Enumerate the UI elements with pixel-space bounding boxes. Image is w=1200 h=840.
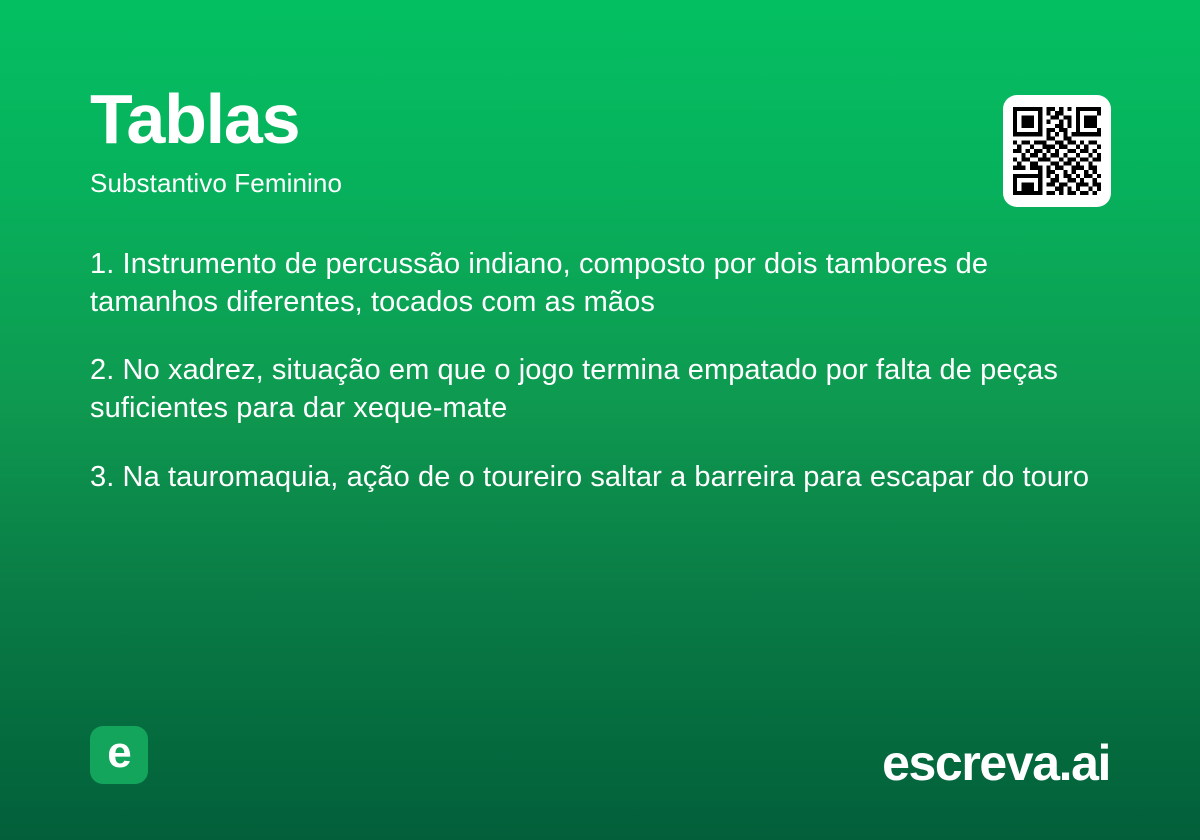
definition-item: 3. Na tauromaquia, ação de o toureiro sa… [90,459,1120,497]
card-footer: e escreva.ai [0,700,1200,840]
page-title: Tablas [90,84,970,154]
dictionary-card: Tablas Substantivo Feminino 1. Instrumen… [0,0,1200,840]
qr-code-card[interactable] [1003,95,1111,207]
definition-item: 2. No xadrez, situação em que o jogo ter… [90,352,1120,427]
card-header: Tablas Substantivo Feminino [90,84,970,196]
qr-code-icon [1013,104,1101,198]
escreva-logo[interactable]: e [90,726,148,784]
definitions-list: 1. Instrumento de percussão indiano, com… [90,246,1120,496]
brand-wordmark: escreva.ai [882,738,1110,788]
logo-letter: e [107,731,130,775]
word-class-subtitle: Substantivo Feminino [90,170,970,196]
definition-item: 1. Instrumento de percussão indiano, com… [90,246,1120,321]
